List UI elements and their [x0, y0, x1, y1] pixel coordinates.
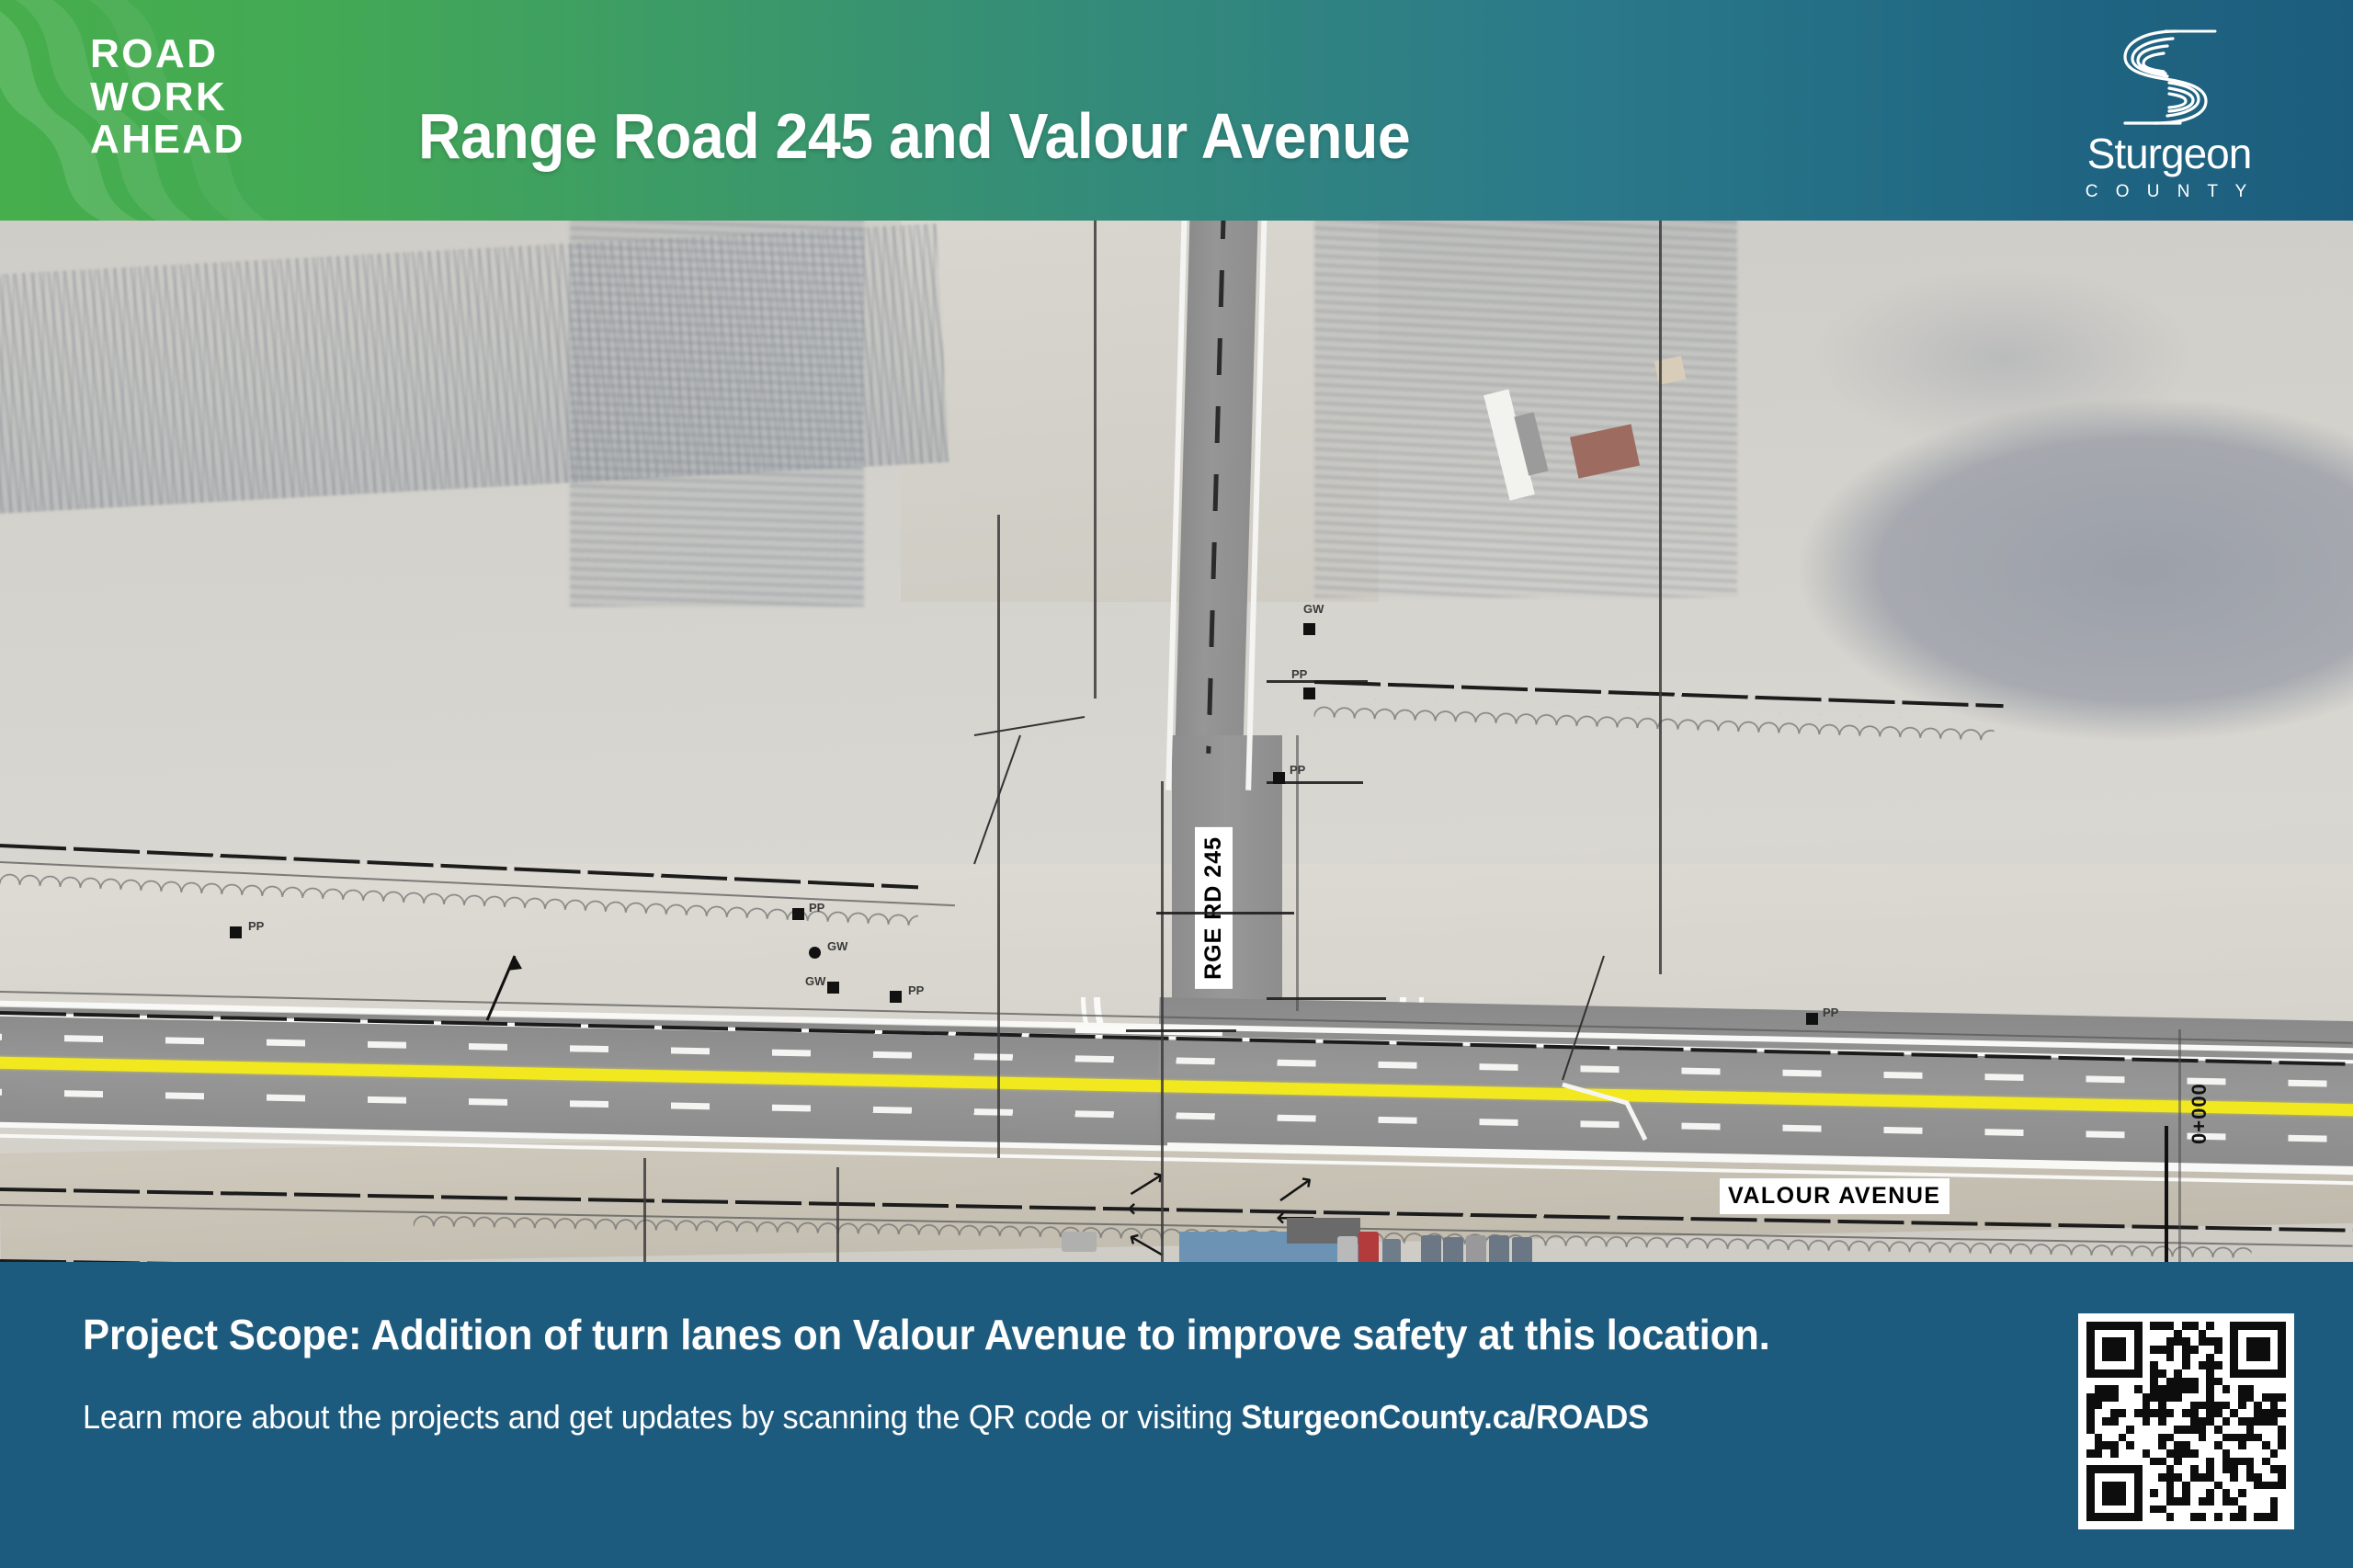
page-title: Range Road 245 and Valour Avenue	[418, 99, 1410, 173]
footer-banner: Project Scope: Addition of turn lanes on…	[0, 1262, 2353, 1568]
parked-car-1	[1337, 1236, 1358, 1262]
survey-marker-gw-2	[827, 982, 839, 994]
badge-line-1: ROAD	[90, 33, 245, 76]
road-work-ahead-badge: ROAD WORK AHEAD	[90, 33, 245, 162]
parked-car-8	[1512, 1237, 1532, 1262]
survey-label-pp-2: PP	[809, 901, 824, 915]
utility-crossing-b	[1267, 680, 1368, 683]
header-banner: ROAD WORK AHEAD Range Road 245 and Valou…	[0, 0, 2353, 221]
project-url[interactable]: SturgeonCounty.ca/ROADS	[1241, 1398, 1649, 1436]
parked-car-2	[1358, 1232, 1379, 1262]
survey-label-pp-3: PP	[908, 983, 924, 997]
county-subtitle: C O U N T Y	[2077, 182, 2261, 202]
sturgeon-s-wave-icon	[2077, 20, 2261, 129]
terrain-treeline-right	[1314, 221, 1737, 597]
qr-code-modules	[2086, 1322, 2286, 1521]
qr-code[interactable]	[2078, 1313, 2294, 1529]
station-tick-mark	[2165, 1126, 2168, 1262]
learn-more-prefix: Learn more about the projects and get up…	[83, 1398, 1241, 1436]
parked-car-4	[1421, 1235, 1441, 1262]
property-line-vertical-h	[2178, 1029, 2181, 1262]
terrain-treeline-middle	[570, 221, 864, 607]
utility-crossing-e	[1126, 1029, 1236, 1032]
survey-marker-gw-1	[809, 947, 821, 959]
property-line-vertical-c	[997, 515, 1000, 1158]
project-scope-text: Project Scope: Addition of turn lanes on…	[83, 1310, 1986, 1359]
badge-line-2: WORK	[90, 76, 245, 119]
parked-car-3	[1382, 1239, 1401, 1262]
survey-marker-pp-5	[1273, 772, 1285, 784]
survey-label-pp-4: GW	[1303, 602, 1324, 616]
survey-marker-gw-3	[1303, 687, 1315, 699]
valour-avenue-label: VALOUR AVENUE	[1720, 1178, 1949, 1214]
survey-label-gw-2: GW	[805, 974, 825, 988]
utility-crossing-a	[1156, 912, 1294, 915]
parked-car-5	[1443, 1237, 1463, 1262]
survey-label-pp-5: PP	[1290, 763, 1305, 777]
badge-line-3: AHEAD	[90, 119, 245, 162]
property-line-vertical-a	[1094, 221, 1097, 699]
terrain-field-upper	[901, 221, 1379, 602]
survey-label-pp-6: PP	[1823, 1006, 1838, 1019]
survey-marker-pp-3	[890, 991, 902, 1003]
property-line-vertical-f	[643, 1158, 646, 1262]
road-work-poster: ROAD WORK AHEAD Range Road 245 and Valou…	[0, 0, 2353, 1568]
range-road-label: RGE RD 245	[1195, 827, 1233, 989]
property-line-vertical-g	[1296, 735, 1299, 1011]
property-line-vertical-b	[1659, 221, 1662, 974]
property-line-vertical-d	[1161, 781, 1164, 1262]
parked-car-9	[1062, 1232, 1097, 1252]
sturgeon-county-logo: Sturgeon C O U N T Y	[2077, 20, 2261, 204]
survey-marker-pp-2	[792, 908, 804, 920]
survey-label-gw-3: PP	[1291, 667, 1307, 681]
parked-car-6	[1466, 1235, 1486, 1262]
survey-label-gw-1: GW	[827, 939, 847, 953]
county-wordmark: Sturgeon	[2077, 129, 2261, 178]
aerial-map-image: RGE RD 245 ⟶ ⟶ ⟶ ⟶ ⟶ ⟶ ⟶ ⟶ VALOUR AVENUE	[0, 221, 2353, 1262]
survey-marker-pp-4	[1303, 623, 1315, 635]
survey-marker-pp-1	[230, 926, 242, 938]
station-label: 0+000	[2188, 1083, 2211, 1144]
property-line-vertical-e	[836, 1167, 839, 1262]
parked-car-7	[1489, 1235, 1509, 1262]
utility-crossing-d	[1267, 997, 1386, 1000]
survey-label-pp-1: PP	[248, 919, 264, 933]
learn-more-text: Learn more about the projects and get up…	[83, 1398, 1986, 1437]
survey-marker-pp-6	[1806, 1013, 1818, 1025]
